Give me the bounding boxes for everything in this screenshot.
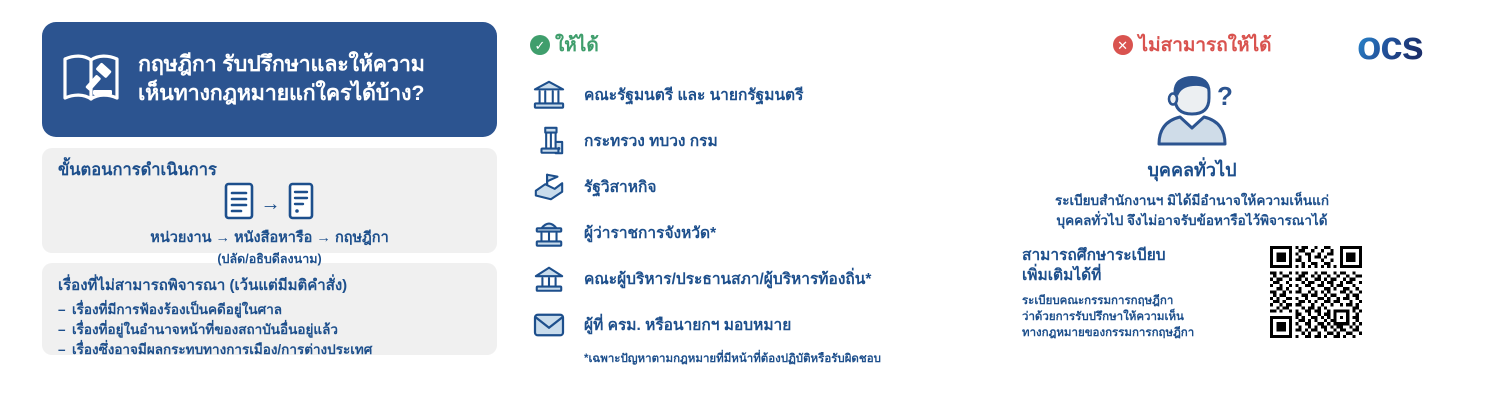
- qr-heading-line-2: เพิ่มเติมได้ที่: [1022, 267, 1101, 284]
- allowed-item-label: คณะรัฐมนตรี และ นายกรัฐมนตรี: [584, 82, 803, 107]
- title-line-2: เห็นทางกฎหมายแก่ใครได้บ้าง?: [138, 81, 424, 105]
- list-item: คณะผู้บริหาร/ประธานสภา/ผู้บริหารท้องถิ่น…: [530, 256, 1050, 301]
- denied-column: ✕ ไม่สามารถให้ได้ ? บุคคลทั่วไป ระเบียบส…: [1022, 30, 1362, 342]
- envelope-icon: [530, 307, 568, 343]
- infographic-page: กฤษฎีกา รับปรึกษาและให้ความ เห็นทางกฎหมา…: [0, 0, 1500, 400]
- flag-territory-icon: [530, 169, 568, 205]
- process-flow-label: หน่วยงาน → หนังสือหารือ → กฤษฎีกา: [58, 226, 481, 249]
- process-card: ขั้นตอนการดำเนินการ →: [42, 148, 497, 253]
- denied-paragraph-line-1: ระเบียบสำนักงานฯ มิได้มีอำนาจให้ความเห็น…: [1055, 193, 1329, 208]
- exclusions-heading: เรื่องที่ไม่สามารถพิจารณา (เว้นแต่มีมติค…: [58, 273, 481, 297]
- book-gavel-icon: [60, 49, 122, 109]
- ocs-logo: ocs: [1356, 26, 1478, 68]
- ministry-building-icon: [530, 123, 568, 159]
- left-column: กฤษฎีกา รับปรึกษาและให้ความ เห็นทางกฎหมา…: [42, 22, 497, 355]
- person-caption: บุคคลทั่วไป: [1022, 155, 1362, 184]
- qr-code-icon[interactable]: [1270, 246, 1362, 338]
- qr-caption: ระเบียบคณะกรรมการกฤษฎีกา ว่าด้วยการรับปร…: [1022, 293, 1258, 342]
- process-icon-row: →: [58, 183, 481, 225]
- arrow-right-icon: →: [261, 194, 281, 214]
- qr-caption-line-2: ว่าด้วยการรับปรึกษาให้ความเห็น: [1022, 311, 1184, 323]
- check-glyph: ✓: [535, 39, 546, 52]
- exclusion-item: เรื่องที่อยู่ในอำนาจหน้าที่ของสถาบันอื่น…: [58, 320, 481, 340]
- qr-caption-line-1: ระเบียบคณะกรรมการกฤษฎีกา: [1022, 295, 1173, 307]
- person-question-icon: ?: [1147, 70, 1237, 151]
- qr-heading: สามารถศึกษาระเบียบ เพิ่มเติมได้ที่: [1022, 246, 1258, 286]
- qr-block: สามารถศึกษาระเบียบ เพิ่มเติมได้ที่ ระเบี…: [1022, 246, 1362, 342]
- list-item: ผู้ว่าราชการจังหวัด*: [530, 210, 1050, 255]
- qr-heading-line-1: สามารถศึกษาระเบียบ: [1022, 247, 1166, 264]
- allowed-heading-row: ✓ ให้ได้: [530, 30, 1050, 60]
- denied-heading-row: ✕ ไม่สามารถให้ได้: [1022, 30, 1362, 60]
- title-card: กฤษฎีกา รับปรึกษาและให้ความ เห็นทางกฎหมา…: [42, 22, 497, 137]
- list-item: ผู้ที่ ครม. หรือนายกฯ มอบหมาย: [530, 302, 1050, 347]
- document-lines-icon: [224, 182, 254, 225]
- exclusion-item: เรื่องที่มีการฟ้องร้องเป็นคดีอยู่ในศาล: [58, 300, 481, 320]
- allowed-column: ✓ ให้ได้ คณะรัฐมนตรี และ นายกรัฐมนตรี: [530, 30, 1050, 368]
- allowed-footnote: *เฉพาะปัญหาตามกฎหมายที่มีหน้าที่ต้องปฏิบ…: [584, 350, 1050, 368]
- bank-building-icon: [530, 77, 568, 113]
- allowed-item-label: รัฐวิสาหกิจ: [584, 174, 656, 199]
- check-circle-icon: ✓: [530, 35, 550, 55]
- list-item: รัฐวิสาหกิจ: [530, 164, 1050, 209]
- qr-text: สามารถศึกษาระเบียบ เพิ่มเติมได้ที่ ระเบี…: [1022, 246, 1258, 342]
- provincial-hall-icon: [530, 215, 568, 251]
- allowed-item-label: ผู้ว่าราชการจังหวัด*: [584, 220, 716, 245]
- person-icon-wrap: ?: [1022, 70, 1362, 151]
- svg-text:?: ?: [1217, 81, 1233, 111]
- list-item: คณะรัฐมนตรี และ นายกรัฐมนตรี: [530, 72, 1050, 117]
- process-heading: ขั้นตอนการดำเนินการ: [58, 160, 481, 181]
- allowed-item-label: คณะผู้บริหาร/ประธานสภา/ผู้บริหารท้องถิ่น…: [584, 266, 871, 291]
- allowed-list: คณะรัฐมนตรี และ นายกรัฐมนตรี กระทรวง ทบว…: [530, 72, 1050, 347]
- allowed-item-label: กระทรวง ทบวง กรม: [584, 128, 718, 153]
- allowed-heading: ให้ได้: [555, 30, 599, 60]
- title-line-1: กฤษฎีกา รับปรึกษาและให้ความ: [138, 52, 425, 76]
- document-form-icon: [288, 182, 316, 225]
- allowed-item-label: ผู้ที่ ครม. หรือนายกฯ มอบหมาย: [584, 312, 791, 337]
- x-circle-icon: ✕: [1113, 35, 1133, 55]
- denied-paragraph-line-2: บุคคลทั่วไป จึงไม่อาจรับข้อหารือไว้พิจาร…: [1057, 213, 1328, 228]
- qr-caption-line-3: ทางกฎหมายของกรรมการกฤษฎีกา: [1022, 327, 1194, 339]
- ocs-logo-text: ocs: [1357, 26, 1423, 68]
- denied-heading: ไม่สามารถให้ได้: [1139, 30, 1272, 60]
- page-title: กฤษฎีกา รับปรึกษาและให้ความ เห็นทางกฎหมา…: [138, 50, 425, 107]
- process-flow: → หน่วยงาน → หนังสือหารือ → กฤษฎีกา (ปลั…: [58, 183, 481, 269]
- denied-paragraph: ระเบียบสำนักงานฯ มิได้มีอำนาจให้ความเห็น…: [1022, 191, 1362, 232]
- x-glyph: ✕: [1117, 39, 1128, 52]
- exclusion-item: เรื่องซึ่งอาจมีผลกระทบทางการเมือง/การต่า…: [58, 340, 481, 360]
- list-item: กระทรวง ทบวง กรม: [530, 118, 1050, 163]
- exclusions-card: เรื่องที่ไม่สามารถพิจารณา (เว้นแต่มีมติค…: [42, 263, 497, 355]
- local-government-icon: [530, 261, 568, 297]
